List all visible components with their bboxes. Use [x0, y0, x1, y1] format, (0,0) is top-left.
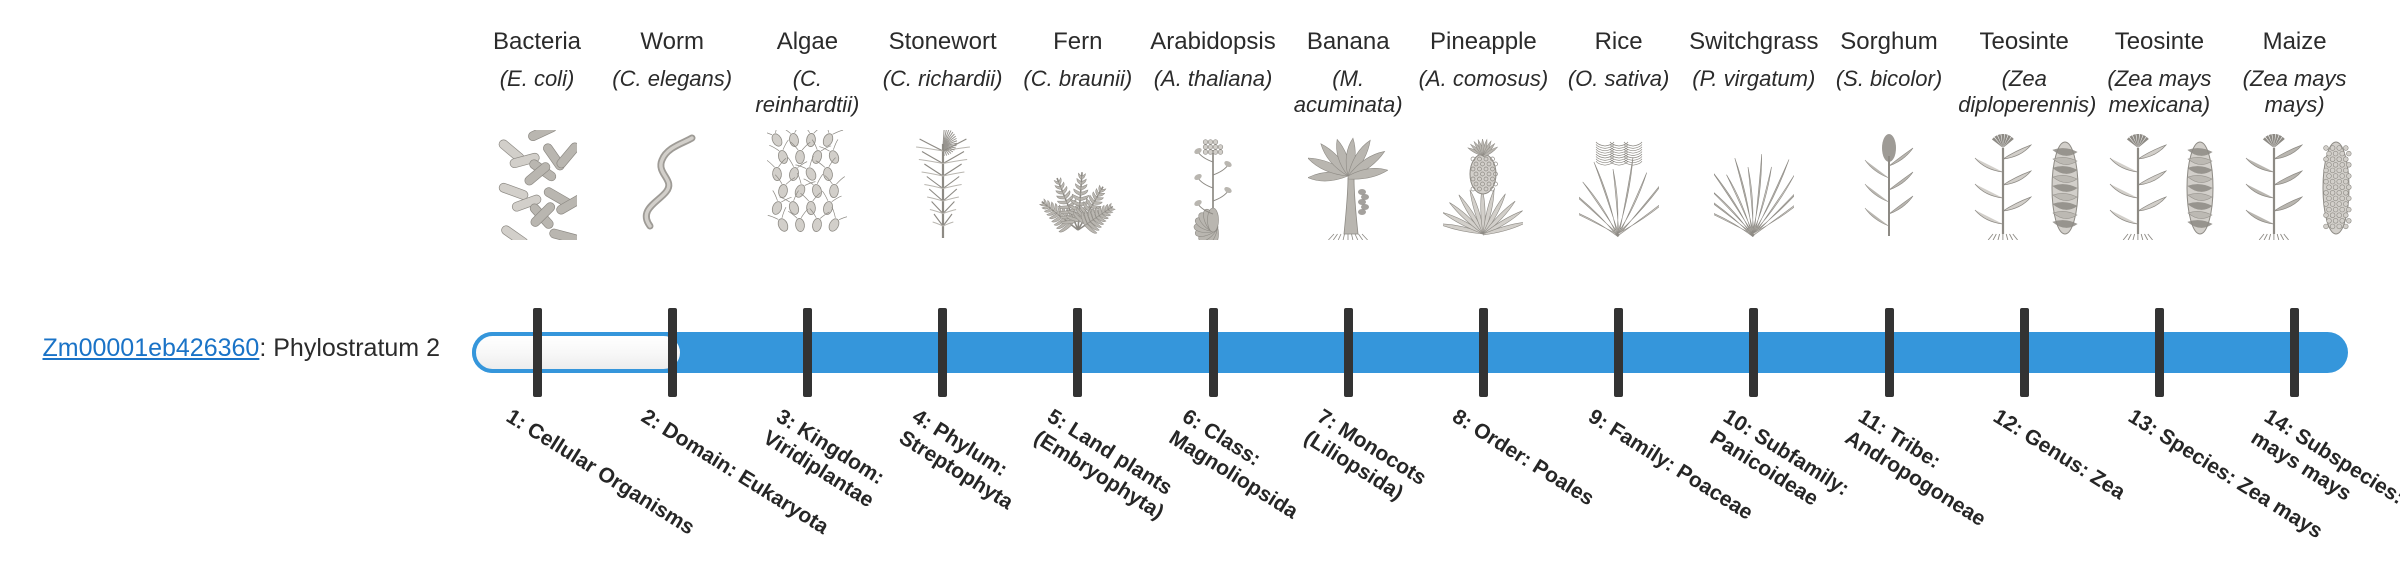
phylostratigraphy-figure: Zm00001eb426360: Phylostratum 2 Bacteria… — [0, 0, 2400, 580]
gene-phylostratum-label: Zm00001eb426360: Phylostratum 2 — [40, 335, 440, 363]
stratum-rank-name: Order: Poales — [1469, 418, 1598, 510]
stratum-number: 1: — [502, 405, 530, 434]
stratum-number: 13: — [2125, 405, 2163, 441]
gene-phylostratum-value: Phylostratum 2 — [273, 334, 440, 362]
gene-label-separator: : — [259, 334, 273, 362]
gene-id-link[interactable]: Zm00001eb426360 — [42, 334, 259, 362]
stratum-label-band: 1: Cellular Organisms2: Domain: Eukaryot… — [472, 0, 2318, 580]
stratum-number: 9: — [1584, 405, 1612, 434]
stratum-rank-name: Genus: Zea — [2020, 424, 2129, 504]
stratum-number: 12: — [1989, 405, 2027, 441]
